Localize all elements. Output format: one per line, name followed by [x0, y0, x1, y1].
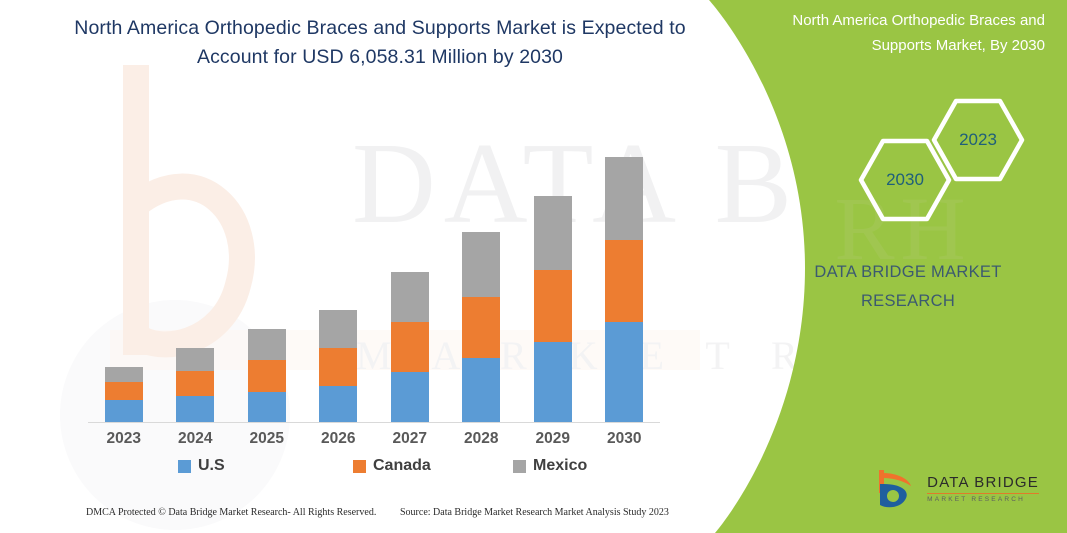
bar-segment-us: [248, 392, 286, 422]
bar-segment-mexico: [462, 232, 500, 297]
bar-segment-mexico: [319, 310, 357, 348]
x-axis-label: 2023: [94, 430, 154, 448]
company-logo: DATA BRIDGE MARKET RESEARCH: [871, 467, 1039, 511]
bar-segment-us: [534, 342, 572, 422]
bar-segment-canada: [534, 270, 572, 342]
legend-swatch-icon: [513, 460, 526, 473]
bar-segment-us: [176, 396, 214, 422]
bar-group: [462, 232, 500, 422]
bar-group: [105, 367, 143, 422]
x-axis-label: 2030: [594, 430, 654, 448]
x-axis-label: 2025: [237, 430, 297, 448]
bar-segment-canada: [248, 360, 286, 392]
hexagon-2023-label: 2023: [930, 97, 1026, 183]
legend-label: Canada: [373, 457, 431, 475]
x-axis-label: 2024: [165, 430, 225, 448]
bar-segment-us: [319, 386, 357, 422]
x-axis-labels: 20232024202520262027202820292030: [88, 430, 660, 454]
infographic-root: DATA BRIDGE M A R K E T R E S E A R C H …: [0, 0, 1067, 533]
legend-swatch-icon: [178, 460, 191, 473]
bar-group: [176, 348, 214, 422]
bar-segment-canada: [105, 382, 143, 400]
bar-segment-canada: [605, 240, 643, 322]
legend-item-canada[interactable]: Canada: [353, 457, 431, 475]
bar-segment-mexico: [176, 348, 214, 371]
legend-label: U.S: [198, 457, 225, 475]
data-bridge-logo-icon: [871, 467, 917, 511]
x-axis-label: 2029: [523, 430, 583, 448]
brand-line-2: RESEARCH: [861, 292, 955, 310]
bar-segment-us: [605, 322, 643, 422]
legend-item-us[interactable]: U.S: [178, 457, 225, 475]
green-side-panel: RH North America Orthopedic Braces and S…: [687, 0, 1067, 533]
legend-item-mexico[interactable]: Mexico: [513, 457, 587, 475]
legend-swatch-icon: [353, 460, 366, 473]
bar-group: [605, 157, 643, 422]
footer: DMCA Protected © Data Bridge Market Rese…: [0, 507, 720, 527]
bar-segment-canada: [176, 371, 214, 396]
chart-legend: U.SCanadaMexico: [88, 457, 660, 481]
x-axis-line: [88, 422, 660, 423]
hexagon-badge-2023: 2023: [930, 97, 1026, 183]
bar-segment-us: [462, 358, 500, 422]
bars-plot: [88, 140, 660, 422]
bar-segment-mexico: [248, 329, 286, 360]
bar-segment-us: [391, 372, 429, 422]
bar-group: [534, 196, 572, 422]
logo-text-block: DATA BRIDGE MARKET RESEARCH: [927, 475, 1039, 504]
bar-segment-canada: [462, 297, 500, 358]
bar-group: [391, 272, 429, 422]
bar-group: [319, 310, 357, 422]
chart-area: 20232024202520262027202820292030 U.SCana…: [0, 0, 720, 533]
bar-segment-mexico: [534, 196, 572, 270]
legend-label: Mexico: [533, 457, 587, 475]
brand-line-1: DATA BRIDGE MARKET: [814, 263, 1001, 281]
bar-segment-mexico: [605, 157, 643, 240]
bar-segment-us: [105, 400, 143, 422]
x-axis-label: 2026: [308, 430, 368, 448]
x-axis-label: 2027: [380, 430, 440, 448]
bar-segment-canada: [319, 348, 357, 386]
logo-divider: [927, 493, 1039, 494]
green-panel-brand: DATA BRIDGE MARKET RESEARCH: [773, 258, 1043, 316]
logo-subtitle: MARKET RESEARCH: [927, 497, 1039, 504]
bar-group: [248, 329, 286, 422]
footer-source: Source: Data Bridge Market Research Mark…: [400, 507, 669, 518]
x-axis-label: 2028: [451, 430, 511, 448]
bar-segment-mexico: [105, 367, 143, 382]
logo-title: DATA BRIDGE: [927, 475, 1039, 490]
footer-copyright: DMCA Protected © Data Bridge Market Rese…: [86, 507, 376, 518]
bar-segment-canada: [391, 322, 429, 372]
bar-segment-mexico: [391, 272, 429, 322]
